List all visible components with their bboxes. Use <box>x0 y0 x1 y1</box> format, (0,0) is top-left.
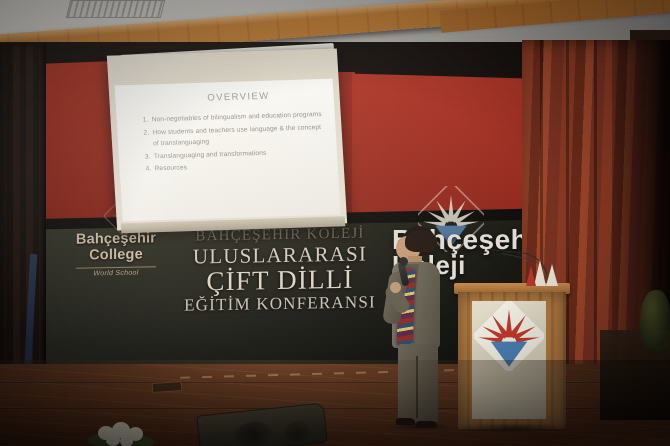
paper-decoration-group <box>524 254 564 288</box>
brand-left-divider <box>76 266 156 268</box>
curtain-fold <box>566 40 569 412</box>
slide-bullet-list: 1. Non-negotiables of bilingualism and e… <box>122 109 330 176</box>
conference-line4: EĞİTİM KONFERANSI <box>182 293 378 313</box>
brand-left-line1: Bahçeşehir <box>62 231 170 248</box>
backdrop-brand-left: Bahçeşehir College World School <box>62 231 170 278</box>
slide-item-text: Resources <box>154 164 187 172</box>
projection-screen: OVERVIEW 1. Non-negotiables of bilingual… <box>107 49 347 231</box>
potted-plant <box>640 290 670 350</box>
slide-item-text: Translanguaging and transformations <box>154 149 267 160</box>
curtain-left-edge-shadow <box>38 44 46 374</box>
presenter-hand <box>390 282 401 293</box>
conference-presentation-photo: Bahçeşehir College World School BAHÇEŞEH… <box>0 0 670 446</box>
brand-left-line2: College <box>62 246 170 265</box>
slide-title: OVERVIEW <box>151 89 326 105</box>
stage-curtain-left <box>0 44 46 374</box>
slide-item-number: 1. <box>142 114 148 126</box>
floor-lighting-falloff <box>0 360 670 446</box>
slide-item-number: 4. <box>145 164 151 176</box>
slide-item-number: 2. <box>143 127 149 139</box>
slide-item-number: 3. <box>145 151 151 163</box>
conference-title-block: BAHÇEŞEHİR KOLEJİ ULUSLARARASI ÇİFT DİLL… <box>182 226 378 314</box>
presenter-hair-front <box>405 230 437 252</box>
curtain-fold <box>594 40 597 412</box>
slide-item-text: How students and teachers use language &… <box>152 124 321 148</box>
presentation-slide: OVERVIEW 1. Non-negotiables of bilingual… <box>115 79 341 222</box>
handheld-microphone-head <box>399 257 408 266</box>
